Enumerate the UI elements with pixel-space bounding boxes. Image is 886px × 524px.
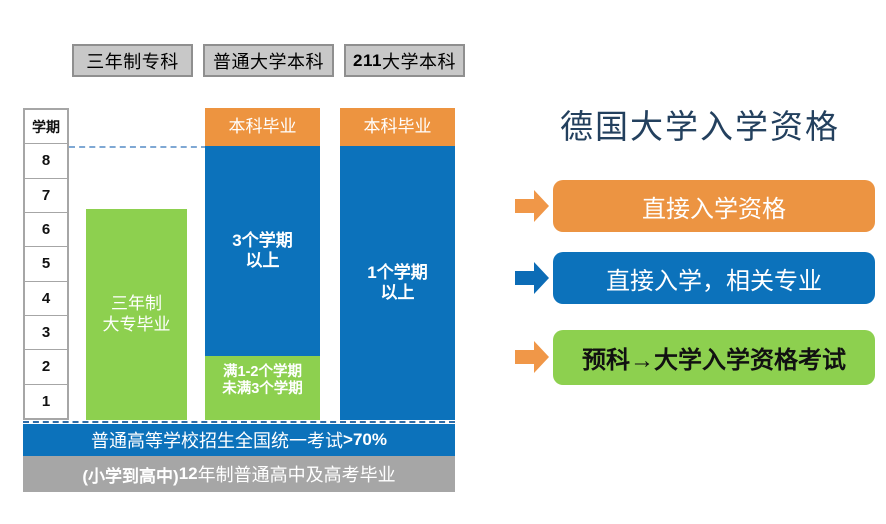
bar-schooling-paren: (小学到高中) <box>82 462 178 487</box>
bar-gaokao-value: >70% <box>343 430 387 450</box>
arrow-icon-direct-related-major <box>515 262 549 294</box>
semester-tick-2: 2 <box>25 350 67 384</box>
bar-schooling-years: 12 <box>179 464 198 484</box>
column-regular-bottom-label: 满1-2个学期 未满3个学期 <box>222 364 303 398</box>
semester-tick-4: 4 <box>25 282 67 316</box>
category-box-211-university: 211大学本科 <box>344 44 465 77</box>
option-direct-admission-label: 直接入学资格 <box>642 189 786 224</box>
category-box-regular-university: 普通大学本科 <box>203 44 334 77</box>
option-direct-related-major-label: 直接入学，相关专业 <box>606 261 822 296</box>
guide-line-baseline <box>23 421 455 423</box>
column-regular-bottom: 满1-2个学期 未满3个学期 <box>205 356 320 420</box>
arrow-icon-direct-admission <box>515 190 549 222</box>
guide-line-semester8 <box>69 146 207 148</box>
panel-title: 德国大学入学资格 <box>540 100 860 148</box>
column-211-top-label: 本科毕业 <box>364 117 432 137</box>
diagram-canvas: 三年制专科 普通大学本科 211大学本科 学期 8 7 6 5 4 3 2 1 … <box>0 0 886 524</box>
column-regular-body: 3个学期 以上 <box>205 146 320 356</box>
option-studienkolleg[interactable]: 预科→大学入学资格考试 <box>553 330 875 385</box>
category-box-regular-university-label: 普通大学本科 <box>213 48 324 74</box>
column-regular-body-label: 3个学期 以上 <box>232 231 292 271</box>
option-direct-related-major[interactable]: 直接入学，相关专业 <box>553 252 875 304</box>
category-box-211-prefix: 211 <box>353 51 382 71</box>
category-box-college-label: 三年制专科 <box>86 48 179 74</box>
semester-tick-8: 8 <box>25 144 67 178</box>
semester-tick-5: 5 <box>25 247 67 281</box>
column-regular-top: 本科毕业 <box>205 108 320 146</box>
semester-axis: 学期 8 7 6 5 4 3 2 1 <box>23 108 69 420</box>
option-studienkolleg-label: 预科→大学入学资格考试 <box>582 340 846 375</box>
bar-schooling-suffix: 年制普通高中及高考毕业 <box>198 461 396 487</box>
column-college-body-label: 三年制 大专毕业 <box>103 294 171 334</box>
semester-tick-6: 6 <box>25 213 67 247</box>
bar-schooling: (小学到高中)12年制普通高中及高考毕业 <box>23 456 455 492</box>
bar-gaokao: 普通高等学校招生全国统一考试>70% <box>23 424 455 456</box>
column-regular-top-label: 本科毕业 <box>229 117 297 137</box>
column-211-top: 本科毕业 <box>340 108 455 146</box>
option-direct-admission[interactable]: 直接入学资格 <box>553 180 875 232</box>
arrow-icon-studienkolleg <box>515 341 549 373</box>
category-box-211-label: 大学本科 <box>382 48 456 74</box>
bar-gaokao-prefix: 普通高等学校招生全国统一考试 <box>91 427 343 453</box>
column-211-body: 1个学期 以上 <box>340 146 455 420</box>
column-211-body-label: 1个学期 以上 <box>367 263 427 303</box>
category-box-college: 三年制专科 <box>72 44 193 77</box>
semester-tick-1: 1 <box>25 385 67 418</box>
column-college-body: 三年制 大专毕业 <box>86 209 187 420</box>
semester-axis-header: 学期 <box>25 110 67 144</box>
semester-tick-3: 3 <box>25 316 67 350</box>
semester-tick-7: 7 <box>25 179 67 213</box>
